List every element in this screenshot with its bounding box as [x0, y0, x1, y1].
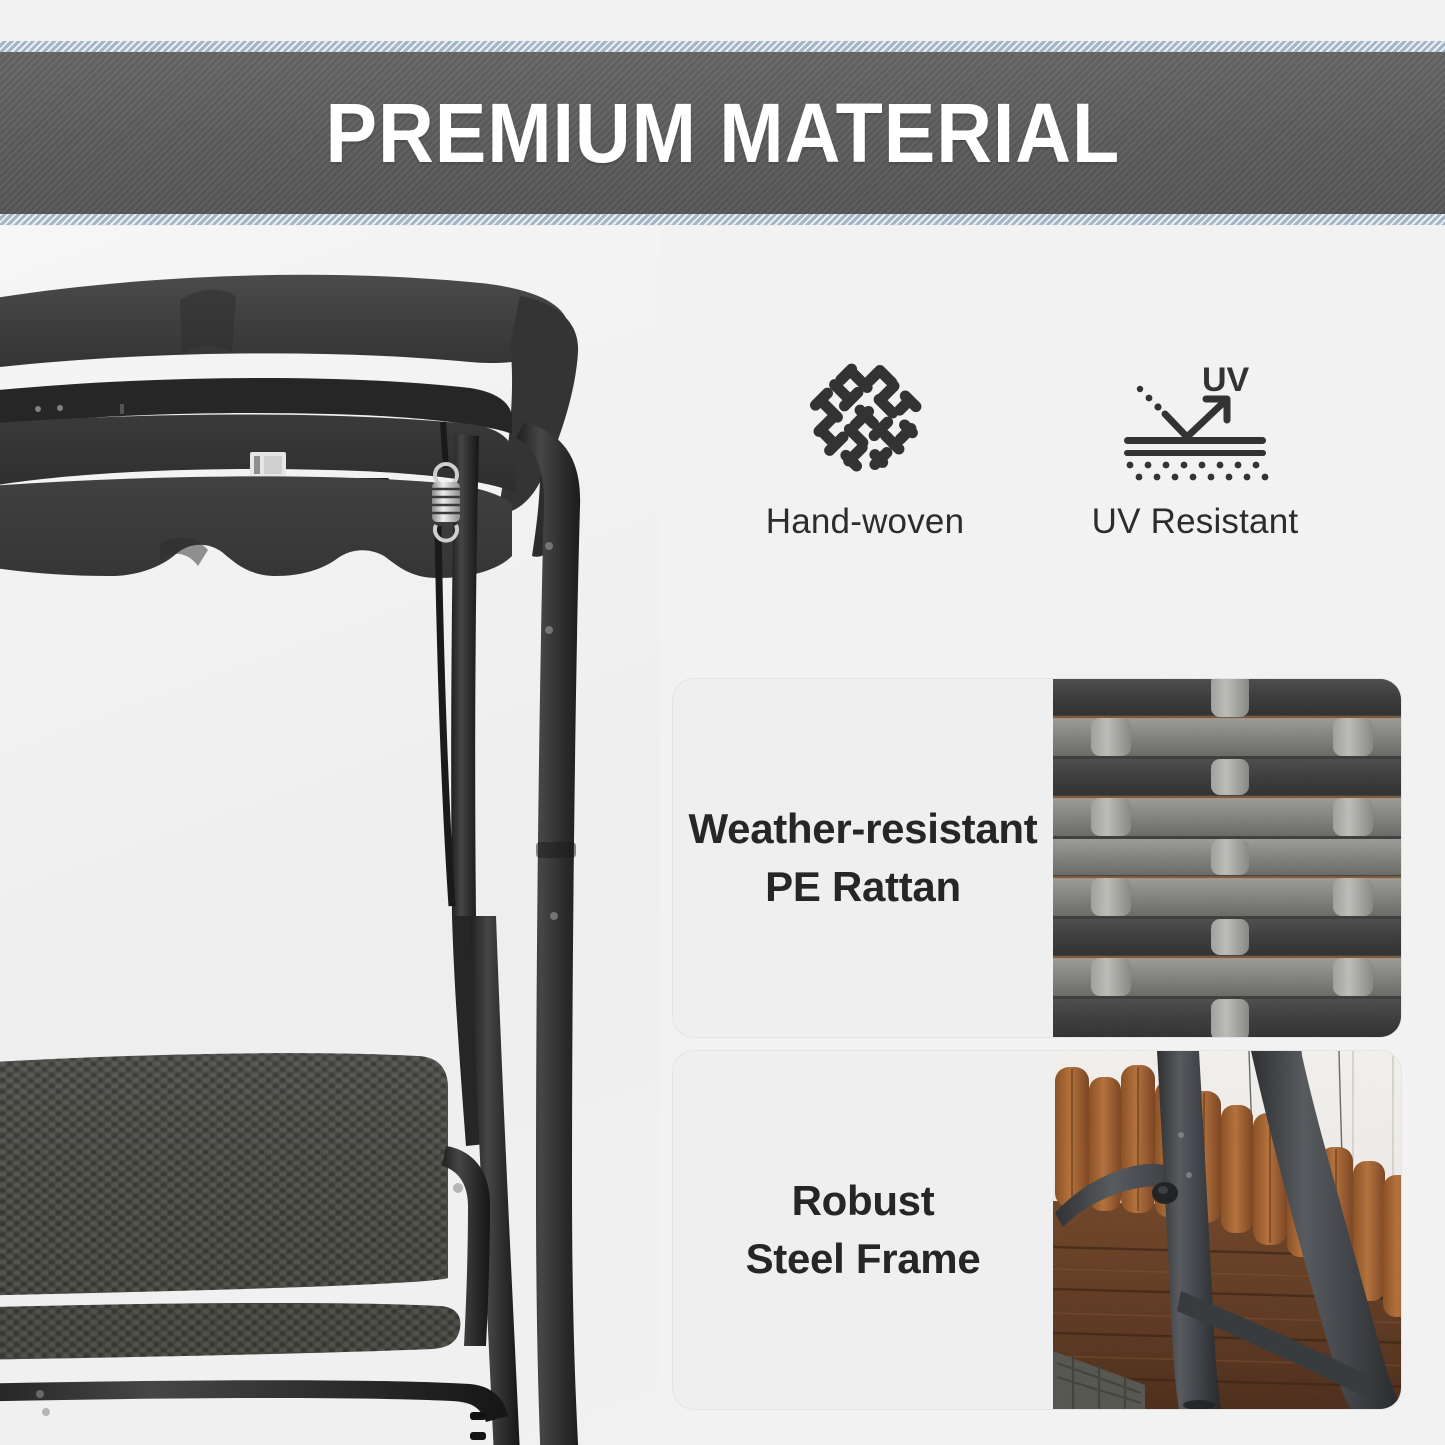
- card-frame-line-2: Steel Frame: [746, 1230, 981, 1288]
- card-rattan-line-2: PE Rattan: [765, 858, 961, 916]
- card-frame-photo: [1053, 1051, 1401, 1409]
- page-title: PREMIUM MATERIAL: [325, 91, 1120, 175]
- banner-top-stripe: [0, 41, 1445, 52]
- feature-icons-row: Hand-woven UV: [700, 360, 1400, 580]
- infographic-page: PREMIUM MATERIAL: [0, 0, 1445, 1445]
- card-weather-resistant-pe-rattan: Weather-resistant PE Rattan: [672, 678, 1402, 1038]
- card-frame-line-1: Robust: [792, 1172, 935, 1230]
- banner-band: PREMIUM MATERIAL: [0, 52, 1445, 214]
- card-rattan-photo: [1053, 679, 1401, 1037]
- feature-label-uv-resistant: UV Resistant: [1092, 502, 1299, 542]
- feature-uv-resistant: UV: [1030, 360, 1360, 542]
- canopy-top: [0, 275, 572, 372]
- feature-label-hand-woven: Hand-woven: [766, 502, 965, 542]
- product-photo: [0, 226, 660, 1445]
- hand-woven-icon: [801, 360, 929, 480]
- front-leg: [516, 422, 586, 1445]
- uv-icon-text: UV: [1202, 361, 1250, 399]
- card-robust-steel-frame: Robust Steel Frame: [672, 1050, 1402, 1410]
- bottom-cross-rail: [0, 1380, 508, 1422]
- feature-hand-woven: Hand-woven: [700, 360, 1030, 542]
- header-banner: PREMIUM MATERIAL: [0, 41, 1445, 225]
- card-frame-text: Robust Steel Frame: [673, 1051, 1053, 1409]
- swing-chair-illustration: [0, 226, 660, 1445]
- banner-bottom-stripe: [0, 214, 1445, 225]
- card-rattan-line-1: Weather-resistant: [689, 800, 1038, 858]
- uv-resistant-icon: UV: [1120, 360, 1270, 480]
- card-rattan-text: Weather-resistant PE Rattan: [673, 679, 1053, 1037]
